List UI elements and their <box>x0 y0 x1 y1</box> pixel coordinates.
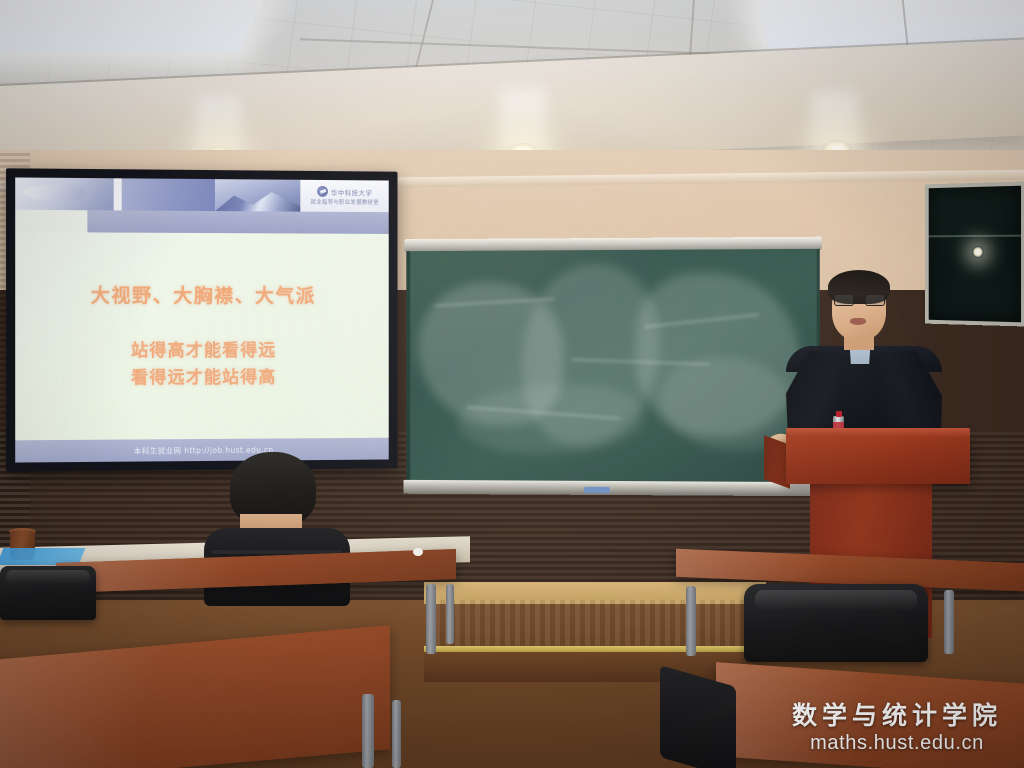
desk-leg <box>446 584 454 644</box>
eyeglasses-icon <box>834 294 885 306</box>
slide-line-1: 站得高才能看得远 <box>131 338 276 365</box>
slide-body: 大视野、大胸襟、大气派 站得高才能看得远 看得远才能站得高 <box>15 232 389 440</box>
chair-sheen <box>755 590 917 610</box>
display-reflection-line <box>929 235 1021 238</box>
blackboard <box>406 249 819 483</box>
desk-leg <box>362 694 374 768</box>
podium-lip <box>786 428 970 437</box>
slide-line-2: 看得远才能站得高 <box>131 364 276 391</box>
logo-row: 华中科技大学 <box>317 186 372 197</box>
slide-accent-notch <box>15 210 87 233</box>
projection-screen: 华中科技大学 就业指导与职业发展教研室 大视野、大胸襟、大气派 站得高才能看得远… <box>15 177 389 462</box>
desk-leg <box>392 700 401 768</box>
slide-title: 大视野、大胸襟、大气派 <box>91 281 316 308</box>
desk-leg <box>686 586 696 656</box>
stage-riser-face <box>430 600 760 652</box>
stage-shadow-under <box>424 652 766 682</box>
watermark: 数学与统计学院 maths.hust.edu.cn <box>792 702 1002 754</box>
desk-leg <box>944 590 954 654</box>
small-paper-scrap <box>413 548 423 556</box>
ceiling-panel-light <box>0 0 269 52</box>
slide-header-divider <box>114 178 122 210</box>
department-name: 就业指导与职业发展教研室 <box>310 198 378 206</box>
slide-header-band: 华中科技大学 就业指导与职业发展教研室 <box>15 177 389 212</box>
eyeglass-lens-left <box>834 294 854 306</box>
eyeglass-lens-right <box>865 294 885 306</box>
podium-desktop <box>786 432 970 484</box>
watermark-chinese: 数学与统计学院 <box>792 702 1002 730</box>
slide-logo-block: 华中科技大学 就业指导与职业发展教研室 <box>301 180 389 212</box>
chair-sheen <box>6 570 90 584</box>
lecture-hall-photo: 华中科技大学 就业指导与职业发展教研室 大视野、大胸襟、大气派 站得高才能看得远… <box>0 0 1024 768</box>
university-seal-icon <box>317 186 328 197</box>
eyeglass-bridge <box>854 299 865 301</box>
projection-screen-frame: 华中科技大学 就业指导与职业发展教研室 大视野、大胸襟、大气派 站得高才能看得远… <box>6 168 398 471</box>
slide-header-image-hand <box>15 177 114 210</box>
university-name: 华中科技大学 <box>331 186 372 196</box>
chair <box>0 566 96 620</box>
slide-header-image-gradient <box>121 178 215 211</box>
watermark-url: maths.hust.edu.cn <box>792 732 1002 754</box>
blackboard-assembly <box>406 249 819 483</box>
chair <box>744 584 928 662</box>
slide-header-image-mountain <box>215 179 300 212</box>
chalk-tray <box>403 480 822 496</box>
chalk-stick <box>584 487 610 493</box>
speaker-mouth <box>850 318 866 325</box>
desk-leg <box>426 584 436 654</box>
